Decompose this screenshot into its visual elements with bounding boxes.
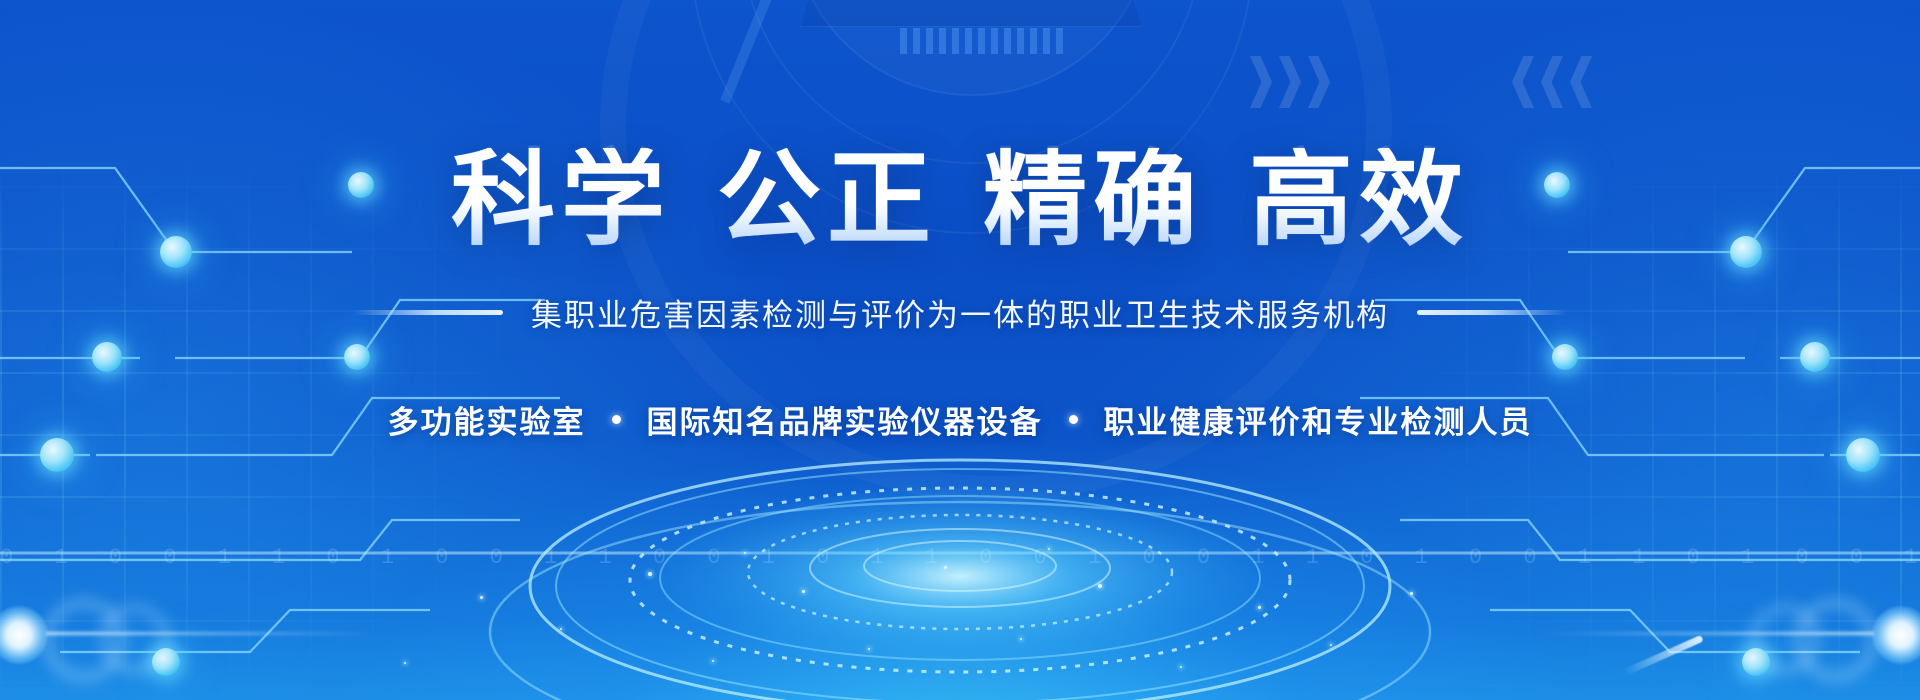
- hero-banner: 0 1 0 0 1 1 0 1 0 0 1 1 0 0 1 0 1 1 0 0 …: [0, 0, 1920, 700]
- headline-word-3: 精确: [983, 142, 1203, 258]
- tagline-row: 多功能实验室 国际知名品牌实验仪器设备 职业健康评价和专业检测人员: [388, 397, 1533, 442]
- subtitle-rule-right: [1417, 310, 1567, 315]
- subtitle-rule-left: [353, 310, 503, 315]
- headline-word-2: 公正: [717, 142, 937, 258]
- tagline-separator-dot: [1069, 415, 1078, 424]
- banner-content: 科学公正精确高效 集职业危害因素检测与评价为一体的职业卫生技术服务机构 多功能实…: [0, 0, 1920, 700]
- tagline-item-2: 国际知名品牌实验仪器设备: [647, 397, 1043, 442]
- headline: 科学公正精确高效: [451, 148, 1469, 252]
- tagline-separator-dot: [612, 415, 621, 424]
- headline-word-1: 科学: [451, 142, 671, 258]
- tagline-item-1: 多功能实验室: [388, 397, 586, 442]
- subtitle-text: 集职业危害因素检测与评价为一体的职业卫生技术服务机构: [531, 290, 1389, 335]
- subtitle-row: 集职业危害因素检测与评价为一体的职业卫生技术服务机构: [353, 290, 1567, 335]
- headline-word-4: 高效: [1249, 142, 1469, 258]
- tagline-item-3: 职业健康评价和专业检测人员: [1104, 397, 1533, 442]
